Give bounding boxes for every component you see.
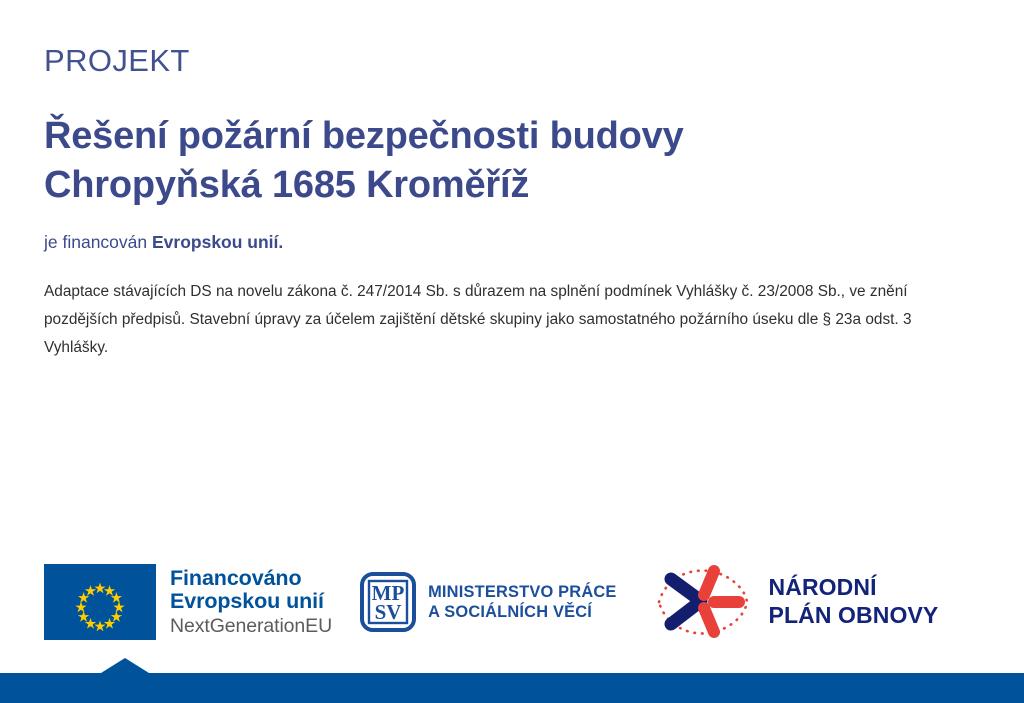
svg-text:SV: SV — [375, 600, 402, 624]
bottom-bar-notch — [101, 658, 149, 673]
npo-logo-text: NÁRODNÍ PLÁN OBNOVY — [769, 574, 939, 629]
funding-statement: je financován Evropskou unií. — [44, 231, 944, 254]
page-title: Řešení požární bezpečnosti budovy Chropy… — [44, 112, 724, 209]
eu-logo-line1: Financováno — [170, 567, 332, 590]
npo-arrow-leaf-icon — [651, 562, 755, 642]
funding-prefix: je financován — [44, 232, 152, 252]
eu-funding-logo: Financováno Evropskou unií NextGeneratio… — [44, 564, 332, 640]
mpsv-monogram-icon: MP SV — [360, 572, 416, 632]
project-description: Adaptace stávajících DS na novelu zákona… — [44, 278, 924, 362]
bottom-bar — [0, 673, 1024, 703]
mpsv-logo-text: MINISTERSTVO PRÁCE A SOCIÁLNÍCH VĚCÍ — [428, 582, 616, 623]
logo-strip: Financováno Evropskou unií NextGeneratio… — [44, 556, 984, 648]
mpsv-logo: MP SV MINISTERSTVO PRÁCE A SOCIÁLNÍCH VĚ… — [360, 572, 616, 632]
poster-content: PROJEKT Řešení požární bezpečnosti budov… — [44, 44, 944, 362]
eu-logo-line2: Evropskou unií — [170, 590, 332, 613]
npo-logo-line1: NÁRODNÍ — [769, 574, 939, 602]
eu-flag-icon — [44, 564, 156, 640]
eu-logo-text: Financováno Evropskou unií NextGeneratio… — [170, 567, 332, 636]
mpsv-logo-line2: A SOCIÁLNÍCH VĚCÍ — [428, 602, 616, 622]
eyebrow-label: PROJEKT — [44, 44, 944, 78]
project-poster: PROJEKT Řešení požární bezpečnosti budov… — [0, 0, 1024, 703]
npo-logo-line2: PLÁN OBNOVY — [769, 602, 939, 630]
funding-source: Evropskou unií. — [152, 232, 283, 252]
mpsv-logo-line1: MINISTERSTVO PRÁCE — [428, 582, 616, 602]
eu-logo-line3: NextGenerationEU — [170, 616, 332, 637]
npo-logo: NÁRODNÍ PLÁN OBNOVY — [651, 562, 939, 642]
